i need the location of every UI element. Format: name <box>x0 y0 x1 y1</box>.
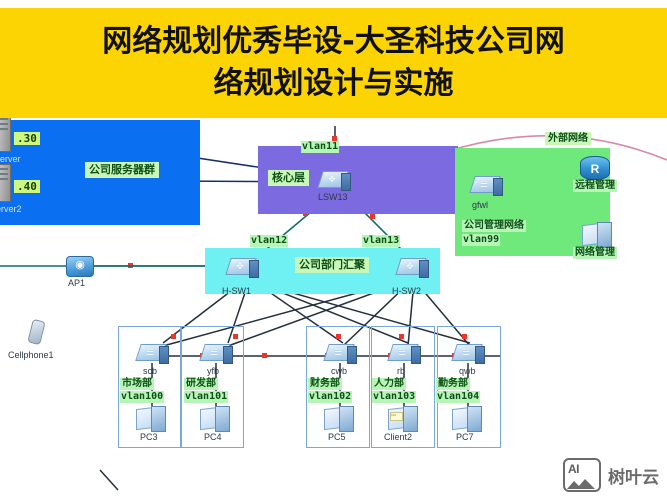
zone-label-core-layer: 核心层 <box>268 170 309 186</box>
dept-switch-label-qwb: qwb <box>459 366 476 377</box>
dept-vlan-marketing: vlan100 <box>120 391 164 403</box>
management-switch-label: gfwl <box>472 200 488 211</box>
screenshot-root: 网络规划优秀毕设-大圣科技公司网 络规划设计与实施 .ln-dark { str… <box>0 0 667 500</box>
zone-label-server-cluster: 公司服务器群 <box>85 162 159 178</box>
dept-host-icon-client2: ≡≡≡ <box>388 406 418 430</box>
title-line-1: 网络规划优秀毕设-大圣科技公司网 <box>102 21 564 63</box>
server-1-label: Server <box>0 154 21 165</box>
network-management-label: 网络管理 <box>573 247 617 259</box>
dept-host-label-pc7: PC7 <box>456 432 474 443</box>
zone-label-management: 公司管理网络 <box>462 220 526 232</box>
server-icon-2 <box>0 164 11 202</box>
access-point-icon: ◉ <box>66 256 94 277</box>
dept-switch-label-rb: rb <box>397 366 405 377</box>
dept-host-label-pc5: PC5 <box>328 432 346 443</box>
dept-vlan-finance: vlan102 <box>308 391 352 403</box>
server-icon-1 <box>0 114 11 152</box>
dept-name-finance: 财务部 <box>308 378 342 390</box>
server-2-ip: .40 <box>14 180 40 193</box>
dept-host-label-client2: Client2 <box>384 432 412 443</box>
remote-management-label: 远程管理 <box>573 180 617 192</box>
zone-label-aggregation: 公司部门汇聚 <box>295 257 369 273</box>
ai-image-icon: AI <box>563 458 601 492</box>
dept-switch-icon-yfb: ☰ <box>202 344 232 364</box>
management-switch-icon: ☰ <box>472 176 502 196</box>
vlan13-label: vlan13 <box>362 235 400 247</box>
dept-host-label-pc3: PC3 <box>140 432 158 443</box>
dept-switch-icon-cwb: ☰ <box>326 344 356 364</box>
external-network-label: 外部网络 <box>545 132 591 145</box>
core-switch-label: LSW13 <box>318 192 348 203</box>
dept-host-icon-pc3 <box>136 406 166 430</box>
dept-host-icon-pc5 <box>324 406 354 430</box>
dept-name-rnd: 研发部 <box>184 378 218 390</box>
dept-switch-icon-qwb: ☰ <box>454 344 484 364</box>
network-topology-diagram: .ln-dark { stroke:#24303d; stroke-width:… <box>0 118 667 500</box>
core-switch-icon: ✥ <box>320 171 350 191</box>
aggregation-switch-2-icon: ✥ <box>398 258 428 278</box>
cellphone-icon <box>30 320 43 344</box>
vlan12-label: vlan12 <box>250 235 288 247</box>
ai-icon-text: AI <box>568 462 579 476</box>
dept-switch-label-yfb: yfb <box>207 366 219 377</box>
dept-switch-label-cwb: cwb <box>331 366 347 377</box>
dept-name-service: 勤务部 <box>436 378 470 390</box>
router-letter-r: R <box>581 162 609 176</box>
dept-vlan-hr: vlan103 <box>372 391 416 403</box>
title-line-2: 络规划设计与实施 <box>214 63 454 105</box>
dept-name-marketing: 市场部 <box>120 378 154 390</box>
cellphone-label: Cellphone1 <box>8 350 54 361</box>
title-banner: 网络规划优秀毕设-大圣科技公司网 络规划设计与实施 <box>0 8 667 118</box>
management-vlan-label: vlan99 <box>462 234 500 246</box>
access-point-label: AP1 <box>68 278 85 289</box>
dept-vlan-service: vlan104 <box>436 391 480 403</box>
dept-switch-icon-scb: ☰ <box>138 344 168 364</box>
dept-host-label-pc4: PC4 <box>204 432 222 443</box>
dept-switch-icon-rb: ☰ <box>390 344 420 364</box>
mountain-glyph <box>567 478 595 489</box>
dept-host-icon-pc7 <box>452 406 482 430</box>
server-1-ip: .30 <box>14 132 40 145</box>
dept-switch-label-scb: scb <box>143 366 157 377</box>
watermark-text: 树叶云 <box>608 463 659 488</box>
server-2-label: Server2 <box>0 204 22 215</box>
watermark: AI 树叶云 <box>563 458 659 492</box>
dept-host-icon-pc4 <box>200 406 230 430</box>
remote-management-router-icon: R <box>580 156 610 180</box>
uplink-vlan-label: vlan11 <box>301 141 339 153</box>
dept-vlan-rnd: vlan101 <box>184 391 228 403</box>
dept-name-hr: 人力部 <box>372 378 406 390</box>
network-management-pc-icon <box>582 222 612 246</box>
aggregation-switch-2-label: H-SW2 <box>392 286 421 297</box>
aggregation-switch-1-label: H-SW1 <box>222 286 251 297</box>
aggregation-switch-1-icon: ✥ <box>228 258 258 278</box>
